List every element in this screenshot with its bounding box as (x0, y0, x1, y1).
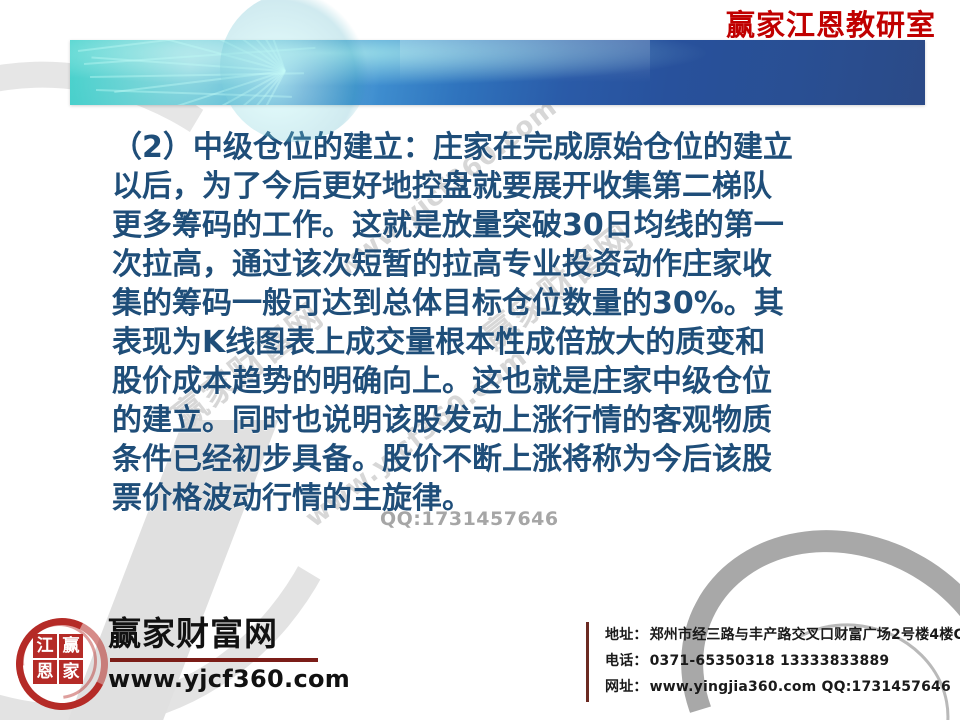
body-line: （2）中级仓位的建立：庄家在完成原始仓位的建立 (112, 128, 902, 167)
seal-char: 赢 (59, 634, 83, 658)
brand-divider (110, 658, 318, 662)
company-seal-logo: 江 赢 恩 家 (14, 616, 100, 702)
banner-globe-shape (220, 0, 370, 142)
page-title: 赢家江恩教研室 (726, 2, 936, 44)
body-line: 以后，为了今后更好地控盘就要展开收集第二梯队 (112, 167, 902, 206)
seal-char: 恩 (33, 660, 57, 684)
body-line: 的建立。同时也说明该股发动上涨行情的客观物质 (112, 401, 902, 440)
body-line: 股价成本趋势的明确向上。这也就是庄家中级仓位 (112, 362, 902, 401)
header-banner-image (70, 40, 925, 105)
contact-value: www.yingjia360.com QQ:1731457646 (650, 679, 951, 695)
body-line: 次拉高，通过该次短暂的拉高专业投资动作庄家收 (112, 245, 902, 284)
body-paragraph: （2）中级仓位的建立：庄家在完成原始仓位的建立以后，为了今后更好地控盘就要展开收… (112, 128, 902, 518)
brand-block: 赢家财富网 www.yjcf360.com (108, 614, 338, 693)
contact-label: 电话： (605, 653, 648, 669)
seal-character-grid: 江 赢 恩 家 (33, 634, 83, 684)
footer-bar: 江 赢 恩 家 赢家财富网 www.yjcf360.com 地址：郑州市经三路与… (0, 608, 960, 720)
contact-row: 电话：0371-65350318 13333833889 (605, 648, 960, 674)
body-line: 条件已经初步具备。股价不断上涨将称为今后该股 (112, 440, 902, 479)
slide-canvas: 赢家财富网 www.yjcf360.com 赢家财富网 www.yjcf360.… (0, 0, 960, 720)
contact-value: 0371-65350318 13333833889 (650, 653, 890, 669)
contact-row: 网址：www.yingjia360.com QQ:1731457646 (605, 674, 960, 700)
seal-char: 江 (33, 634, 57, 658)
contact-block: 地址：郑州市经三路与丰产路交叉口财富广场2号楼4楼C户电话：0371-65350… (586, 622, 960, 702)
seal-char: 家 (59, 660, 83, 684)
contact-label: 地址： (605, 627, 648, 643)
contact-row: 地址：郑州市经三路与丰产路交叉口财富广场2号楼4楼C户 (605, 622, 960, 648)
banner-highlight (400, 40, 650, 105)
qq-note: QQ:1731457646 (380, 508, 559, 530)
contact-label: 网址： (605, 679, 648, 695)
brand-name: 赢家财富网 (108, 614, 338, 654)
body-line: 表现为K线图表上成交量根本性成倍放大的质变和 (112, 323, 902, 362)
contact-value: 郑州市经三路与丰产路交叉口财富广场2号楼4楼C户 (650, 627, 960, 643)
body-line: 集的筹码一般可达到总体目标仓位数量的30%。其 (112, 284, 902, 323)
body-line: 更多筹码的工作。这就是放量突破30日均线的第一 (112, 206, 902, 245)
brand-website: www.yjcf360.com (108, 665, 338, 693)
